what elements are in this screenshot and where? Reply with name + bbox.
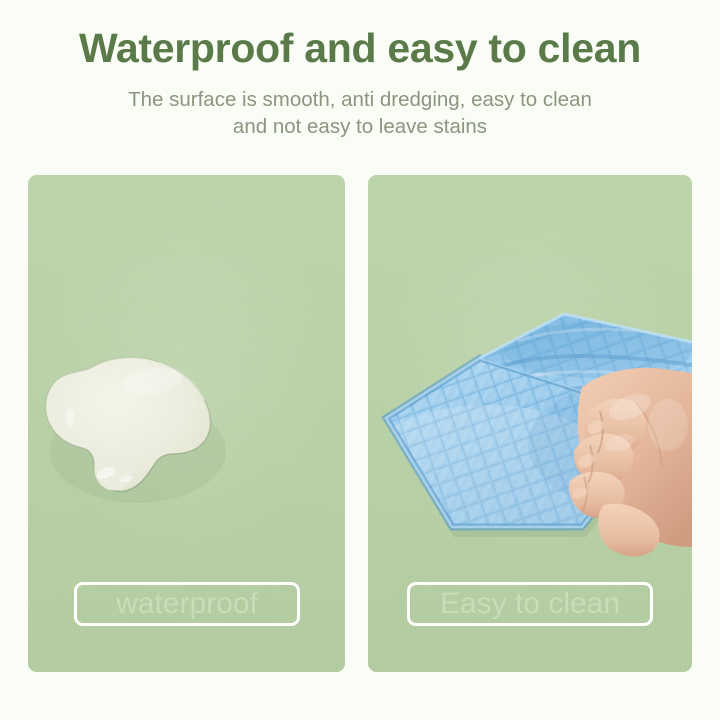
label-easy-to-clean-text: Easy to clean — [440, 589, 620, 619]
page-subtitle: The surface is smooth, anti dredging, ea… — [0, 86, 720, 140]
panel-waterproof: waterproof — [28, 175, 345, 672]
panel-easy-to-clean: Easy to clean — [368, 175, 692, 672]
product-feature-image: Waterproof and easy to clean The surface… — [0, 0, 720, 720]
label-waterproof-text: waterproof — [116, 589, 258, 619]
label-waterproof: waterproof — [74, 582, 300, 626]
page-title: Waterproof and easy to clean — [0, 28, 720, 69]
water-spill-illustration — [40, 355, 235, 505]
label-easy-to-clean: Easy to clean — [407, 582, 653, 626]
header: Waterproof and easy to clean The surface… — [0, 0, 720, 160]
subtitle-line-2: and not easy to leave stains — [0, 113, 720, 140]
subtitle-line-1: The surface is smooth, anti dredging, ea… — [0, 86, 720, 113]
